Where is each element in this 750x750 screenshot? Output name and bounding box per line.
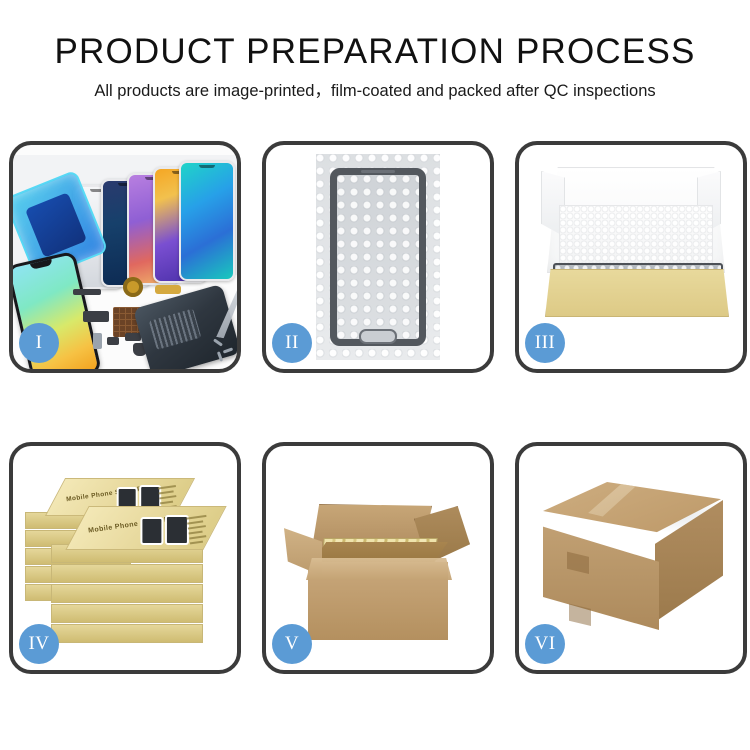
flex-cable-icon bbox=[83, 311, 109, 322]
box-tray-icon bbox=[545, 269, 729, 317]
wrapped-screen-icon bbox=[330, 168, 426, 346]
flex-cable-icon bbox=[155, 285, 181, 294]
step-badge-3: III bbox=[525, 323, 565, 363]
page-header: PRODUCT PREPARATION PROCESS All products… bbox=[0, 0, 750, 103]
carton-flap-icon bbox=[306, 558, 452, 580]
camera-module-icon bbox=[123, 277, 143, 297]
bubble-wrap-icon bbox=[316, 154, 440, 360]
stacked-box-edge bbox=[51, 564, 203, 583]
small-part-icon bbox=[125, 333, 141, 341]
stacked-box-edge bbox=[51, 604, 203, 623]
home-button-icon bbox=[359, 329, 397, 344]
step-badge-5: V bbox=[272, 624, 312, 664]
step-panel-3: III bbox=[515, 141, 747, 373]
connector-bar-icon bbox=[73, 289, 101, 295]
stacked-box-edge bbox=[51, 584, 203, 603]
box-phone-image bbox=[140, 517, 163, 545]
box-lid-top: Mobile Phone Spare Parts bbox=[65, 506, 226, 550]
process-steps-grid: I II III bbox=[9, 141, 743, 674]
step-badge-4: IV bbox=[19, 624, 59, 664]
step-badge-1: I bbox=[19, 323, 59, 363]
step-badge-6: VI bbox=[525, 624, 565, 664]
carton-front-face bbox=[543, 520, 659, 630]
phone-screen-icon bbox=[179, 161, 235, 281]
small-part-icon bbox=[93, 333, 102, 349]
screws-icon bbox=[213, 341, 237, 363]
box-checklist bbox=[186, 515, 212, 548]
box-phone-image bbox=[165, 515, 189, 545]
step-panel-5: V bbox=[262, 442, 494, 674]
step-badge-2: II bbox=[272, 323, 312, 363]
step-panel-2: II bbox=[262, 141, 494, 373]
sealed-carton-icon bbox=[537, 482, 727, 642]
stacked-box-edge bbox=[51, 624, 203, 643]
step-panel-6: VI bbox=[515, 442, 747, 674]
step-panel-1: I bbox=[9, 141, 241, 373]
page-title: PRODUCT PREPARATION PROCESS bbox=[0, 31, 750, 73]
step-panel-4: Mobile Phone Spare Parts Mobile Phone bbox=[9, 442, 241, 674]
small-part-icon bbox=[107, 337, 119, 345]
page-subtitle: All products are image-printed，film-coat… bbox=[0, 79, 750, 103]
